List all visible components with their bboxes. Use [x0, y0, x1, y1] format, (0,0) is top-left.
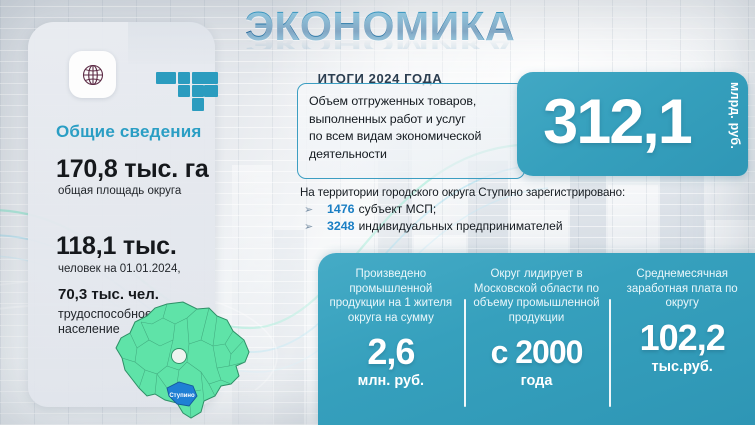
- statement-line-4: деятельности: [309, 146, 515, 164]
- page-title-reflection: ЭКОНОМИКА: [230, 40, 530, 49]
- stat-area-value: 170,8 тыс. га: [56, 155, 209, 184]
- bottom-metrics-panel: Произведено промышленной продукции на 1 …: [318, 253, 755, 425]
- metric-column-industrial-output: Произведено промышленной продукции на 1 …: [318, 253, 464, 425]
- statement-line-3: по всем видам экономической: [309, 128, 515, 146]
- infographic-slide: ЭКОНОМИКА ЭКОНОМИКА ИТОГИ 2024 ГОДА Общ: [0, 0, 755, 425]
- statement-box: Объем отгруженных товаров, выполненных р…: [297, 83, 525, 179]
- metric-value: с 2000: [469, 332, 605, 372]
- globe-icon: [80, 62, 106, 88]
- headline-metric-unit: млрд. руб.: [728, 82, 742, 174]
- metric-unit: млн. руб.: [323, 373, 459, 389]
- list-item: ➢ 1476 субъект МСП;: [300, 202, 740, 216]
- metric-caption: Округ лидирует в Московской области по о…: [469, 267, 605, 325]
- list-item: ➢ 3248 индивидуальных предпринимателей: [300, 219, 740, 233]
- metric-column-average-salary: Среднемесячная заработная плата по округ…: [609, 253, 755, 425]
- moscow-oblast-map: Ступино: [105, 300, 255, 422]
- headline-metric-panel: 312,1 млрд. руб.: [517, 72, 748, 176]
- statement-line-2: выполненных работ и услуг: [309, 111, 515, 129]
- registered-item-text: субъект МСП;: [359, 202, 437, 216]
- chevron-bullet-icon: ➢: [300, 203, 327, 216]
- metric-unit: года: [469, 373, 605, 389]
- stat-area-caption: общая площадь округа: [58, 185, 181, 197]
- statement-line-1: Объем отгруженных товаров,: [309, 93, 515, 111]
- chevron-bullet-icon: ➢: [300, 220, 327, 233]
- stat-population-value: 118,1 тыс.: [56, 232, 177, 261]
- globe-icon-tile: [69, 51, 116, 98]
- slide-header: ЭКОНОМИКА ЭКОНОМИКА ИТОГИ 2024 ГОДА: [230, 4, 530, 86]
- registered-item-number: 3248: [327, 219, 355, 233]
- registered-item-number: 1476: [327, 202, 355, 216]
- map-highlight-label: Ступино: [169, 393, 195, 399]
- metric-value: 102,2: [614, 318, 750, 358]
- metric-caption: Среднемесячная заработная плата по округ…: [614, 267, 750, 311]
- headline-metric-value: 312,1: [527, 86, 707, 158]
- metric-unit: тыс.руб.: [614, 359, 750, 375]
- registered-heading: На территории городского округа Ступино …: [300, 186, 740, 199]
- card-heading: Общие сведения: [56, 122, 216, 142]
- stat-population-caption: человек на 01.01.2024,: [58, 263, 181, 275]
- map-svg: Ступино: [105, 300, 255, 422]
- registered-block: На территории городского округа Ступино …: [300, 186, 740, 233]
- pixel-decoration-icon: [156, 70, 230, 114]
- metric-column-regional-leader: Округ лидирует в Московской области по о…: [464, 253, 610, 425]
- metric-value: 2,6: [323, 332, 459, 372]
- metric-caption: Произведено промышленной продукции на 1 …: [323, 267, 459, 325]
- registered-item-text: индивидуальных предпринимателей: [359, 219, 563, 233]
